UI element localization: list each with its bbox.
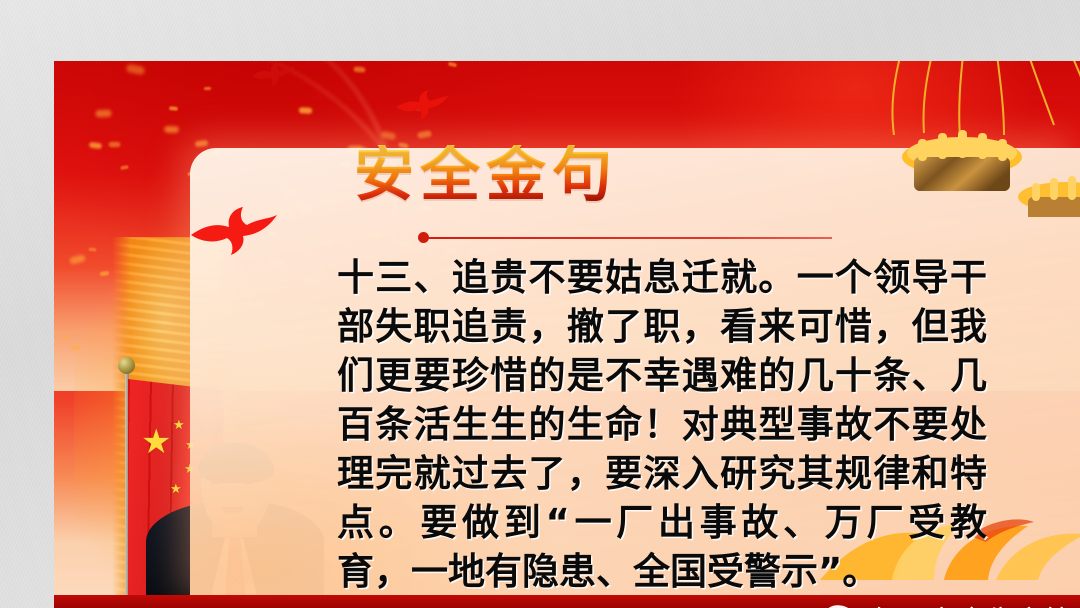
watermark-text: 每日安全生产管理 — [871, 599, 1080, 608]
wechat-logo-icon — [824, 604, 862, 608]
title-block: 安全金句 — [354, 145, 618, 205]
gold-fleck — [447, 61, 456, 67]
gold-fleck — [354, 67, 366, 73]
gold-fleck — [195, 140, 209, 147]
page-title: 安全金句 — [354, 145, 618, 205]
flag-finial-icon — [118, 357, 135, 374]
gold-fleck — [169, 106, 178, 111]
dove-icon-tiny — [250, 61, 296, 87]
title-rule-dot — [418, 232, 429, 243]
gold-fleck — [95, 109, 111, 117]
gold-fleck — [126, 63, 146, 75]
dove-icon-small — [394, 89, 450, 121]
gold-fleck — [417, 130, 432, 139]
gold-fleck — [69, 254, 86, 265]
gold-fleck — [99, 271, 109, 277]
outer-frame: ★ ★ ★ ★ ★ — [0, 0, 1080, 608]
gold-fleck — [164, 126, 179, 133]
gold-fleck — [108, 142, 120, 147]
gold-fleck — [89, 141, 102, 148]
gold-fleck — [204, 87, 211, 90]
gold-fleck — [120, 165, 129, 170]
gold-lantern-icon — [814, 61, 1080, 217]
gold-fleck — [88, 247, 96, 251]
quote-body-text: 十三、追贵不要姑息迁就。一个领导干部失职追责，撤了职，看来可惜，但我们更要珍惜的… — [337, 253, 987, 596]
gold-fleck — [381, 130, 397, 140]
title-underline — [422, 237, 832, 239]
watermark: 每日安全生产管理 — [824, 599, 1080, 608]
gold-fleck — [61, 335, 70, 340]
dove-icon — [187, 205, 279, 257]
gold-fleck — [299, 107, 313, 114]
slide-canvas: ★ ★ ★ ★ ★ — [54, 61, 1080, 608]
